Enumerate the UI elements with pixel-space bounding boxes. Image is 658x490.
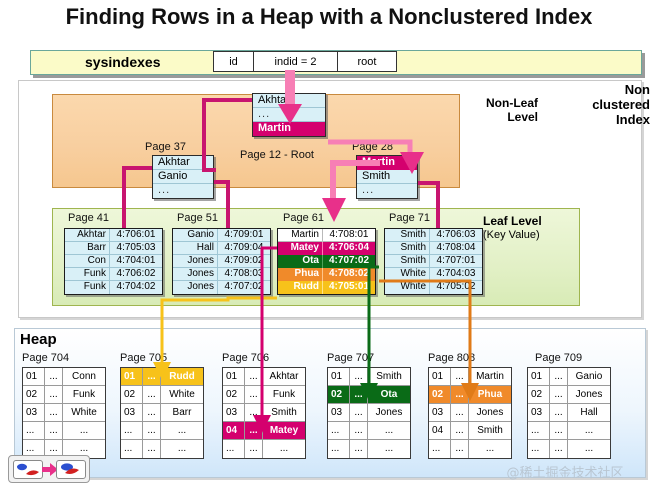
slide-thumbnail-next-icon[interactable] <box>56 460 86 479</box>
leaf-key: Akhtar <box>65 229 110 241</box>
heap-row: 02...Funk <box>223 386 305 404</box>
leaf-row: Smith4:707:01 <box>385 255 482 268</box>
heap-slot: 03 <box>223 404 245 421</box>
leaf-key: Rudd <box>278 281 323 294</box>
heap-row: 03...Hall <box>528 404 610 422</box>
heap-dots: ... <box>143 386 161 403</box>
heap-name: Phua <box>469 386 511 403</box>
heap-table-page-709[interactable]: 01...Ganio 02...Jones 03...Hall ........… <box>527 367 611 459</box>
heap-row: ......... <box>328 440 410 458</box>
diagram-canvas: Finding Rows in a Heap with a Noncluster… <box>0 0 658 490</box>
page-caption-page-706: Page 706 <box>222 352 269 364</box>
heap-name: Smith <box>368 368 410 385</box>
heap-dots: ... <box>45 404 63 421</box>
page-caption-page-707: Page 707 <box>327 352 374 364</box>
heap-row: ......... <box>223 440 305 458</box>
heap-dots: ... <box>550 386 568 403</box>
heap-name: Jones <box>368 404 410 421</box>
heap-row: ......... <box>121 440 203 458</box>
leaf-row: Akhtar4:706:01 <box>65 229 162 242</box>
leaf-key: Phua <box>278 268 323 281</box>
leaf-rid: 4:704:02 <box>110 281 162 294</box>
heap-label: Heap <box>20 331 57 348</box>
page-title: Finding Rows in a Heap with a Noncluster… <box>0 4 658 30</box>
leaf-table-page-61[interactable]: Martin4:708:01 Matey4:706:04 Ota4:707:02… <box>277 228 376 295</box>
leaf-table-page-41[interactable]: Akhtar4:706:01 Barr4:705:03 Con4:704:01 … <box>64 228 163 295</box>
heap-name: Funk <box>63 386 105 403</box>
leaf-rid: 4:708:02 <box>323 268 375 281</box>
heap-slot: 01 <box>23 368 45 385</box>
heap-name: Funk <box>263 386 305 403</box>
heap-slot: 03 <box>528 404 550 421</box>
heap-dots: ... <box>350 440 368 458</box>
heap-slot: ... <box>528 440 550 458</box>
leaf-key: Jones <box>173 281 218 294</box>
leaf-key: Jones <box>173 268 218 280</box>
node-row: ... <box>153 184 213 198</box>
leaf-key: Barr <box>65 242 110 254</box>
leaf-row: White4:704:03 <box>385 268 482 281</box>
heap-dots: ... <box>143 404 161 421</box>
leaf-rid: 4:707:01 <box>430 255 482 267</box>
heap-table-page-704[interactable]: 01...Conn 02...Funk 03...White .........… <box>22 367 106 459</box>
node-row: Smith <box>357 170 417 184</box>
heap-slot: ... <box>121 422 143 439</box>
leaf-row: Con4:704:01 <box>65 255 162 268</box>
leaf-key: Funk <box>65 268 110 280</box>
leaf-key: White <box>385 281 430 294</box>
heap-name: Ota <box>368 386 410 403</box>
heap-row: 01...Smith <box>328 368 410 386</box>
page-caption-page-41: Page 41 <box>68 212 109 224</box>
heap-row: ......... <box>121 422 203 440</box>
page-caption-page-51: Page 51 <box>177 212 218 224</box>
leaf-rid: 4:705:03 <box>110 242 162 254</box>
leaf-table-page-51[interactable]: Ganio4:709:01 Hall4:709:04 Jones4:709:02… <box>172 228 271 295</box>
heap-dots: ... <box>245 404 263 421</box>
heap-slot: 02 <box>429 386 451 403</box>
non-leaf-label-line-2: Level <box>468 110 538 124</box>
heap-slot: 03 <box>121 404 143 421</box>
nci-title-line-1: Non <box>560 82 650 97</box>
heap-slot: ... <box>429 440 451 458</box>
heap-name: Smith <box>263 404 305 421</box>
leaf-row: Smith4:706:03 <box>385 229 482 242</box>
heap-row: 01...Martin <box>429 368 511 386</box>
leaf-rid: 4:705:01 <box>323 281 375 294</box>
heap-slot: 02 <box>23 386 45 403</box>
page-caption-page-709: Page 709 <box>535 352 582 364</box>
nonclustered-index-title: Non clustered Index <box>560 82 650 127</box>
heap-row: ......... <box>328 422 410 440</box>
leaf-key: Matey <box>278 242 323 255</box>
heap-table-page-705[interactable]: 01...Rudd 02...White 03...Barr .........… <box>120 367 204 459</box>
heap-slot: 04 <box>223 422 245 439</box>
heap-name: ... <box>63 422 105 439</box>
heap-name: White <box>161 386 203 403</box>
leaf-key: Funk <box>65 281 110 294</box>
heap-slot: ... <box>223 440 245 458</box>
leaf-key: Hall <box>173 242 218 254</box>
page-caption-page-705: Page 705 <box>120 352 167 364</box>
heap-row-highlighted: 01...Rudd <box>121 368 203 386</box>
heap-dots: ... <box>143 368 161 385</box>
heap-dots: ... <box>550 422 568 439</box>
nci-title-line-2: clustered <box>560 97 650 112</box>
heap-row: 02...Jones <box>528 386 610 404</box>
thumbnail-shapes-icon <box>14 461 42 478</box>
heap-slot: 03 <box>23 404 45 421</box>
heap-slot: 02 <box>528 386 550 403</box>
heap-row: 04...Smith <box>429 422 511 440</box>
leaf-rid: 4:705:02 <box>430 281 482 294</box>
heap-row: ......... <box>528 440 610 458</box>
heap-dots: ... <box>451 368 469 385</box>
heap-row: 02...White <box>121 386 203 404</box>
heap-dots: ... <box>143 422 161 439</box>
leaf-rid: 4:706:01 <box>110 229 162 241</box>
index-node-page-28[interactable]: Martin Smith ... <box>356 155 418 199</box>
heap-name: ... <box>161 440 203 458</box>
node-row-highlighted: Martin <box>253 122 325 136</box>
leaf-key: White <box>385 268 430 280</box>
heap-row: 01...Akhtar <box>223 368 305 386</box>
node-row: Akhtar <box>253 94 325 108</box>
page-caption-page-61: Page 61 <box>283 212 324 224</box>
leaf-row: Hall4:709:04 <box>173 242 270 255</box>
leaf-rid: 4:706:04 <box>323 242 375 255</box>
heap-slot: ... <box>23 422 45 439</box>
heap-slot: ... <box>121 440 143 458</box>
leaf-row: White4:705:02 <box>385 281 482 294</box>
node-row: ... <box>253 108 325 122</box>
heap-row: 03...Smith <box>223 404 305 422</box>
heap-name: ... <box>469 440 511 458</box>
heap-row: 02...Funk <box>23 386 105 404</box>
leaf-rid: 4:704:01 <box>110 255 162 267</box>
heap-row: 03...Jones <box>429 404 511 422</box>
heap-dots: ... <box>350 368 368 385</box>
leaf-rid: 4:708:04 <box>430 242 482 254</box>
heap-dots: ... <box>45 368 63 385</box>
leaf-rid: 4:709:02 <box>218 255 270 267</box>
heap-row-highlighted: 02...Ota <box>328 386 410 404</box>
leaf-row: Jones4:709:02 <box>173 255 270 268</box>
heap-slot: 03 <box>328 404 350 421</box>
heap-dots: ... <box>451 422 469 439</box>
leaf-rid: 4:709:04 <box>218 242 270 254</box>
leaf-rid: 4:706:02 <box>110 268 162 280</box>
leaf-rid: 4:704:03 <box>430 268 482 280</box>
heap-dots: ... <box>451 440 469 458</box>
leaf-table-page-71[interactable]: Smith4:706:03 Smith4:708:04 Smith4:707:0… <box>384 228 483 295</box>
leaf-row: Ganio4:709:01 <box>173 229 270 242</box>
heap-name: ... <box>568 422 610 439</box>
sysindexes-tuple: id indid = 2 root <box>213 51 397 72</box>
page-caption-page-704: Page 704 <box>22 352 69 364</box>
index-node-page-12-root[interactable]: Akhtar ... Martin <box>252 93 326 137</box>
leaf-key: Jones <box>173 255 218 267</box>
page-caption-page-808: Page 808 <box>428 352 475 364</box>
leaf-row: Jones4:708:03 <box>173 268 270 281</box>
leaf-key: Ganio <box>173 229 218 241</box>
navigation-icon-group[interactable] <box>8 455 90 483</box>
heap-dots: ... <box>143 440 161 458</box>
heap-slot: 01 <box>223 368 245 385</box>
index-node-page-37[interactable]: Akhtar Ganio ... <box>152 155 214 199</box>
leaf-row-highlighted: Rudd4:705:01 <box>278 281 375 294</box>
heap-dots: ... <box>350 386 368 403</box>
leaf-row: Smith4:708:04 <box>385 242 482 255</box>
leaf-row: Barr4:705:03 <box>65 242 162 255</box>
heap-slot: 01 <box>121 368 143 385</box>
heap-row: 01...Conn <box>23 368 105 386</box>
heap-row: 03...Barr <box>121 404 203 422</box>
heap-name: ... <box>368 422 410 439</box>
heap-dots: ... <box>245 368 263 385</box>
heap-dots: ... <box>350 404 368 421</box>
heap-name: Barr <box>161 404 203 421</box>
heap-dots: ... <box>550 404 568 421</box>
heap-slot: 03 <box>429 404 451 421</box>
heap-table-page-706[interactable]: 01...Akhtar 02...Funk 03...Smith 04...Ma… <box>222 367 306 459</box>
heap-row: ......... <box>429 440 511 458</box>
leaf-row: Jones4:707:02 <box>173 281 270 294</box>
leaf-level-title: Leaf Level <box>483 214 579 228</box>
heap-row: 01...Ganio <box>528 368 610 386</box>
heap-slot: 02 <box>223 386 245 403</box>
heap-name: Martin <box>469 368 511 385</box>
non-leaf-level-label: Non-Leaf Level <box>468 96 538 124</box>
leaf-level-subtitle: (Key Value) <box>483 228 579 242</box>
thumbnail-shapes-alt-icon <box>57 461 85 478</box>
leaf-row-highlighted: Matey4:706:04 <box>278 242 375 255</box>
leaf-rid: 4:709:01 <box>218 229 270 241</box>
heap-row: ......... <box>23 422 105 440</box>
heap-dots: ... <box>550 440 568 458</box>
heap-name: White <box>63 404 105 421</box>
heap-dots: ... <box>550 368 568 385</box>
leaf-key: Smith <box>385 242 430 254</box>
heap-row: 03...Jones <box>328 404 410 422</box>
heap-name: Ganio <box>568 368 610 385</box>
leaf-key: Martin <box>278 229 323 241</box>
heap-slot: 01 <box>528 368 550 385</box>
heap-name: ... <box>368 440 410 458</box>
page-caption-page-37: Page 37 <box>145 141 186 153</box>
heap-dots: ... <box>45 422 63 439</box>
heap-dots: ... <box>350 422 368 439</box>
page-caption-page-12-root: Page 12 - Root <box>240 149 314 161</box>
heap-name: Conn <box>63 368 105 385</box>
leaf-row: Funk4:706:02 <box>65 268 162 281</box>
heap-name: ... <box>161 422 203 439</box>
heap-table-page-707[interactable]: 01...Smith 02...Ota 03...Jones .........… <box>327 367 411 459</box>
heap-dots: ... <box>245 386 263 403</box>
heap-slot: ... <box>328 440 350 458</box>
non-leaf-label-line-1: Non-Leaf <box>468 96 538 110</box>
heap-name: Rudd <box>161 368 203 385</box>
page-caption-page-71: Page 71 <box>389 212 430 224</box>
heap-row-highlighted: 02...Phua <box>429 386 511 404</box>
heap-slot: 04 <box>429 422 451 439</box>
node-row: Akhtar <box>153 156 213 170</box>
leaf-key: Ota <box>278 255 323 268</box>
heap-name: ... <box>568 440 610 458</box>
leaf-key: Con <box>65 255 110 267</box>
leaf-row-highlighted: Phua4:708:02 <box>278 268 375 281</box>
heap-row: 03...White <box>23 404 105 422</box>
heap-name: Jones <box>469 404 511 421</box>
heap-name: Matey <box>263 422 305 439</box>
heap-slot: ... <box>328 422 350 439</box>
sysindexes-col-indid: indid = 2 <box>254 52 338 71</box>
heap-slot: ... <box>528 422 550 439</box>
heap-dots: ... <box>245 422 263 439</box>
heap-row: ......... <box>528 422 610 440</box>
heap-slot: 02 <box>121 386 143 403</box>
leaf-key: Smith <box>385 229 430 241</box>
node-row-highlighted: Martin <box>357 156 417 170</box>
heap-name: Hall <box>568 404 610 421</box>
heap-slot: 01 <box>328 368 350 385</box>
leaf-level-label: Leaf Level (Key Value) <box>483 214 579 242</box>
leaf-row-highlighted: Ota4:707:02 <box>278 255 375 268</box>
heap-row-highlighted: 04...Matey <box>223 422 305 440</box>
watermark: @稀土掘金技术社区 <box>480 462 650 481</box>
page-caption-page-28: Page 28 <box>352 141 393 153</box>
sysindexes-label: sysindexes <box>85 54 161 70</box>
node-row: Ganio <box>153 170 213 184</box>
heap-dots: ... <box>45 386 63 403</box>
heap-slot: 01 <box>429 368 451 385</box>
leaf-rid: 4:708:03 <box>218 268 270 280</box>
leaf-key: Smith <box>385 255 430 267</box>
node-row: ... <box>357 184 417 198</box>
heap-name: Smith <box>469 422 511 439</box>
leaf-rid: 4:707:02 <box>323 255 375 268</box>
heap-dots: ... <box>245 440 263 458</box>
leaf-rid: 4:706:03 <box>430 229 482 241</box>
heap-dots: ... <box>451 386 469 403</box>
leaf-rid: 4:708:01 <box>323 229 375 241</box>
slide-thumbnail-previous-icon[interactable] <box>13 460 43 479</box>
sysindexes-col-id: id <box>214 52 254 71</box>
leaf-rid: 4:707:02 <box>218 281 270 294</box>
heap-slot: 02 <box>328 386 350 403</box>
heap-name: Akhtar <box>263 368 305 385</box>
sysindexes-col-root: root <box>338 52 396 71</box>
leaf-row: Martin4:708:01 <box>278 229 375 242</box>
heap-table-page-808[interactable]: 01...Martin 02...Phua 03...Jones 04...Sm… <box>428 367 512 459</box>
nci-title-line-3: Index <box>560 112 650 127</box>
heap-name: Jones <box>568 386 610 403</box>
leaf-row: Funk4:704:02 <box>65 281 162 294</box>
heap-dots: ... <box>451 404 469 421</box>
heap-name: ... <box>263 440 305 458</box>
